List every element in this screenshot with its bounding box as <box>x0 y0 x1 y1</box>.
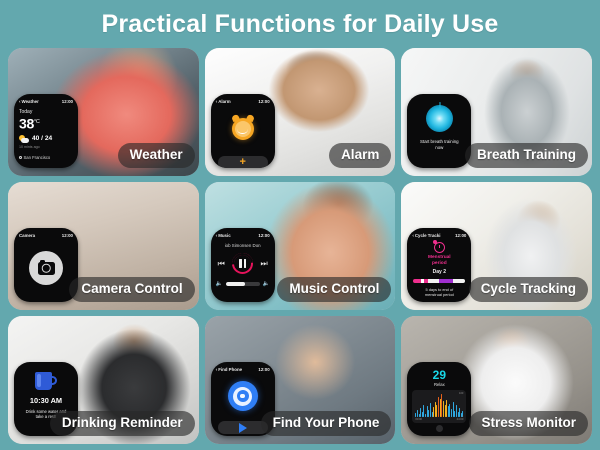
cycle-status-line2: period <box>432 261 447 266</box>
watch-header: ‹ Weather 12:00 <box>19 99 73 105</box>
sun-cloud-icon <box>19 135 29 143</box>
watch-header: ‹ Cycle Tracki 12:00 <box>412 233 466 239</box>
weather-location: San Francisco <box>24 155 51 160</box>
back-button[interactable]: ‹ Weather <box>19 99 39 105</box>
chevron-left-icon: ‹ <box>216 368 218 373</box>
chevron-left-icon: ‹ <box>216 234 218 239</box>
back-button[interactable]: ‹ Alarm <box>216 99 231 105</box>
card-camera-control[interactable]: Camera 12:00 Camera Control <box>8 182 199 310</box>
volume-low-icon: 🔈 <box>216 281 223 287</box>
card-label-stress-monitor: Stress Monitor <box>469 411 588 436</box>
alarm-body <box>216 105 270 153</box>
watch-time: 12:00 <box>62 233 73 239</box>
page-title: Practical Functions for Daily Use <box>0 0 600 39</box>
weather-location-row: San Francisco <box>19 155 73 160</box>
back-button[interactable]: ‹ Find Phone <box>216 367 242 373</box>
card-label-weather: Weather <box>118 143 195 168</box>
watch-weather[interactable]: ‹ Weather 12:00 Today 38°C 40 / 24 10 mi… <box>14 94 78 168</box>
watch-app-name: Music <box>218 233 230 239</box>
chevron-left-icon: ‹ <box>216 100 218 105</box>
chevron-left-icon: ‹ <box>412 234 414 239</box>
radar-target-icon <box>228 381 258 411</box>
stress-state: Relax <box>412 382 466 387</box>
weather-high-low-row: 40 / 24 <box>19 135 73 143</box>
watch-music[interactable]: ‹ Music 12:00 iob Simonsen Don ⏮ ⏭ 🔈 🔈 <box>211 228 275 302</box>
stress-bar <box>425 414 426 417</box>
music-controls: ⏮ ⏭ <box>216 253 270 274</box>
chevron-left-icon: ‹ <box>19 100 21 105</box>
cycle-icon <box>434 242 445 253</box>
chart-y-min: 1 <box>462 415 463 418</box>
music-track-title: iob Simonsen Don <box>216 243 270 248</box>
card-alarm[interactable]: ‹ Alarm 12:00 + Alarm <box>205 48 396 176</box>
watch-time: 12:00 <box>258 367 269 373</box>
watch-app-name: Weather <box>22 99 39 105</box>
breath-prompt-line1: Start breath training <box>420 139 459 144</box>
weather-updated: 10 mints ago <box>19 145 73 149</box>
weather-high-low: 40 / 24 <box>32 135 52 142</box>
breath-prompt-line2: now <box>435 145 443 150</box>
card-label-breath-training: Breath Training <box>465 143 588 168</box>
water-cup-icon <box>35 372 57 390</box>
home-button-icon[interactable] <box>436 425 443 432</box>
card-label-drinking-reminder: Drinking Reminder <box>50 411 195 436</box>
watch-app-name: Alarm <box>218 99 230 105</box>
pause-button[interactable] <box>232 253 253 274</box>
card-drinking-reminder[interactable]: 10:30 AM Drink some water and take a res… <box>8 316 199 444</box>
watch-app-name: Find Phone <box>218 367 242 373</box>
watch-time: 12:00 <box>62 99 73 105</box>
watch-app-name: Camera <box>19 233 35 239</box>
camera-icon <box>38 262 55 275</box>
watch-alarm[interactable]: ‹ Alarm 12:00 + <box>211 94 275 168</box>
pause-icon <box>239 259 246 268</box>
camera-body <box>19 239 73 297</box>
music-volume-row[interactable]: 🔈 🔈 <box>216 281 270 287</box>
card-label-find-your-phone: Find Your Phone <box>261 411 392 436</box>
stress-chart: 100 1 00:00 24:00 <box>412 390 466 423</box>
stress-score: 29 <box>412 369 466 382</box>
find-phone-body <box>216 373 270 419</box>
skip-next-icon[interactable]: ⏭ <box>260 260 267 268</box>
cycle-day: Day 2 <box>433 269 446 275</box>
volume-high-icon: 🔈 <box>263 281 270 287</box>
breath-prompt: Start breath training now <box>420 139 459 151</box>
back-button[interactable]: ‹ Music <box>216 233 231 239</box>
back-button[interactable]: ‹ Cycle Tracki <box>412 233 440 239</box>
chart-x-end: 24:00 <box>457 418 464 421</box>
cycle-body: Menstrual period Day 2 5 days to end of … <box>412 242 466 297</box>
stress-bar <box>456 405 457 417</box>
watch-time: 12:00 <box>455 233 466 239</box>
card-music-control[interactable]: ‹ Music 12:00 iob Simonsen Don ⏮ ⏭ 🔈 🔈 M… <box>205 182 396 310</box>
location-pin-icon <box>19 156 22 159</box>
watch-stress-monitor[interactable]: 29 Relax 100 1 00:00 24:00 <box>407 362 471 436</box>
card-label-music-control: Music Control <box>277 277 391 302</box>
stress-bar <box>430 403 431 417</box>
card-find-your-phone[interactable]: ‹ Find Phone 12:00 Find Your Phone <box>205 316 396 444</box>
weather-temperature: 38°C <box>19 115 73 132</box>
card-cycle-tracking[interactable]: ‹ Cycle Tracki 12:00 Menstrual period Da… <box>401 182 592 310</box>
add-alarm-button[interactable]: + <box>218 156 268 168</box>
watch-cycle-tracking[interactable]: ‹ Cycle Tracki 12:00 Menstrual period Da… <box>407 228 471 302</box>
cycle-progress-bar <box>413 279 465 282</box>
camera-shutter-button[interactable] <box>29 251 63 285</box>
skip-previous-icon[interactable]: ⏮ <box>218 260 225 268</box>
alarm-clock-icon <box>232 118 254 140</box>
card-stress-monitor[interactable]: 29 Relax 100 1 00:00 24:00 Stress Monito… <box>401 316 592 444</box>
card-weather[interactable]: ‹ Weather 12:00 Today 38°C 40 / 24 10 mi… <box>8 48 199 176</box>
card-label-cycle-tracking: Cycle Tracking <box>469 277 588 302</box>
stress-bar <box>451 409 452 417</box>
drink-time: 10:30 AM <box>19 396 73 405</box>
watch-header: ‹ Music 12:00 <box>216 233 270 239</box>
weather-unit: °C <box>34 119 40 125</box>
chart-x-axis: 00:00 24:00 <box>415 418 463 421</box>
breath-flower-icon <box>426 105 453 132</box>
chart-y-max: 100 <box>459 392 463 395</box>
cycle-note: 5 days to end of menstrual period <box>425 287 454 297</box>
watch-app-name: Cycle Tracki <box>415 233 441 239</box>
cycle-note-line2: menstrual period <box>425 292 454 297</box>
volume-slider[interactable] <box>226 282 260 285</box>
chart-x-start: 00:00 <box>415 418 422 421</box>
play-icon <box>239 423 247 433</box>
card-label-camera-control: Camera Control <box>69 277 194 302</box>
card-label-alarm: Alarm <box>329 143 391 168</box>
stress-bar <box>438 397 439 417</box>
cycle-status-line1: Menstrual <box>428 255 451 260</box>
cycle-status: Menstrual period <box>428 255 451 266</box>
watch-time: 12:00 <box>258 233 269 239</box>
feature-grid: ‹ Weather 12:00 Today 38°C 40 / 24 10 mi… <box>8 48 592 444</box>
stress-bar <box>417 410 418 417</box>
card-breath-training[interactable]: Start breath training now Breath Trainin… <box>401 48 592 176</box>
stress-bars <box>415 393 463 417</box>
stress-bar <box>443 401 444 417</box>
watch-time: 12:00 <box>258 99 269 105</box>
breath-body: Start breath training now <box>412 99 466 155</box>
watch-breath-training[interactable]: Start breath training now <box>407 94 471 168</box>
